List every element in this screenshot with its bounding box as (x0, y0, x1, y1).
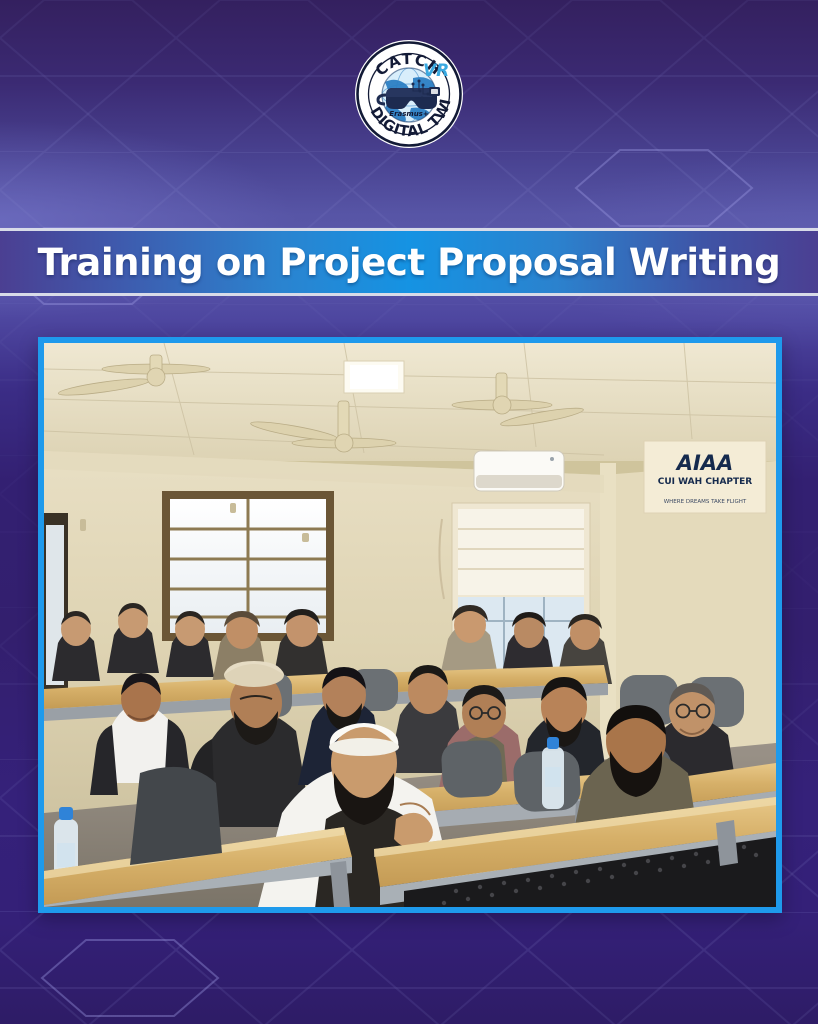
air-conditioner (474, 451, 564, 491)
poster-canvas: CATCH VR DIGITAL TWIN Erasmus+ Training … (0, 0, 818, 1024)
logo-center-text: Erasmus+ (389, 110, 429, 118)
chair-front-left (130, 767, 222, 865)
page-title: Training on Project Proposal Writing (38, 241, 781, 284)
training-session-classroom-photo: AIAA CUI WAH CHAPTER WHERE DREAMS TAKE F… (44, 343, 776, 907)
aiaa-poster-subtitle: CUI WAH CHAPTER (658, 477, 753, 487)
catch-vr-digital-twin-logo: CATCH VR DIGITAL TWIN Erasmus+ (353, 38, 465, 150)
logo-container: CATCH VR DIGITAL TWIN Erasmus+ (0, 38, 818, 150)
title-banner: Training on Project Proposal Writing (0, 228, 818, 296)
aiaa-poster: AIAA CUI WAH CHAPTER WHERE DREAMS TAKE F… (644, 441, 766, 513)
photo-frame: AIAA CUI WAH CHAPTER WHERE DREAMS TAKE F… (38, 337, 782, 913)
aiaa-poster-tagline: WHERE DREAMS TAKE FLIGHT (664, 499, 747, 505)
logo-vr-mark: VR (423, 61, 449, 81)
aiaa-poster-title: AIAA (675, 451, 734, 475)
svg-text:VR: VR (423, 61, 449, 81)
